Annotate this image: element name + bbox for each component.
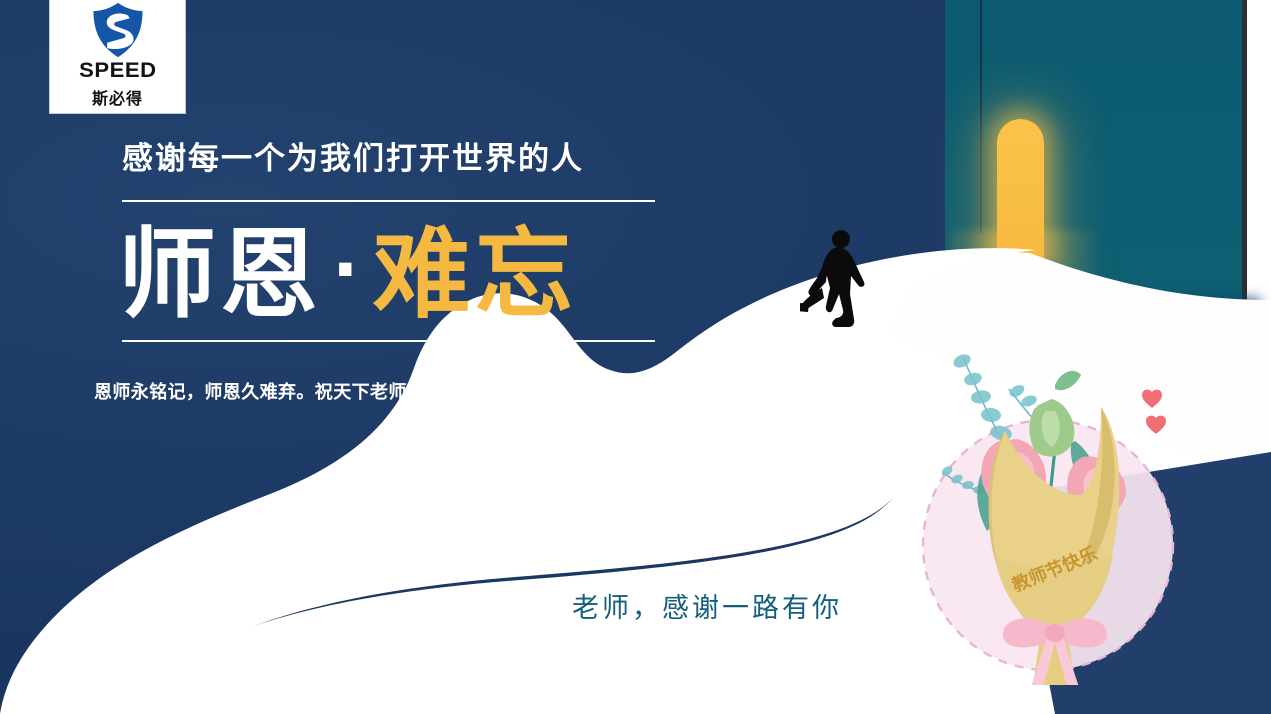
speed-logo-card[interactable]: SPEED 斯必得: [49, 0, 186, 114]
shield-s-icon: [89, 1, 147, 59]
logo-chinese-text: 斯必得: [92, 85, 143, 109]
title-white-part: 师恩: [118, 218, 322, 332]
title-gold-part: 难忘: [373, 218, 577, 332]
page-title: 师恩·难忘: [118, 209, 577, 336]
kicker-text: 感谢每一个为我们打开世界的人: [122, 133, 584, 178]
blessing-text: 恩师永铭记，师恩久难弃。祝天下老师快乐开心!节日快乐!幸福永远!: [94, 378, 653, 404]
divider-bottom: [122, 340, 655, 342]
divider-top: [122, 200, 655, 202]
logo-english-text: SPEED: [79, 60, 156, 81]
floating-hearts-icon: [1140, 388, 1180, 443]
closing-text: 老师，感谢一路有你: [572, 586, 842, 625]
running-person-silhouette-icon: [800, 228, 870, 338]
teachers-day-poster: 教师节快乐 SPEED 斯必得 感谢每一个为我们打开世界的人 师恩·难忘 恩师永…: [0, 0, 1271, 714]
title-separator: ·: [322, 229, 373, 311]
